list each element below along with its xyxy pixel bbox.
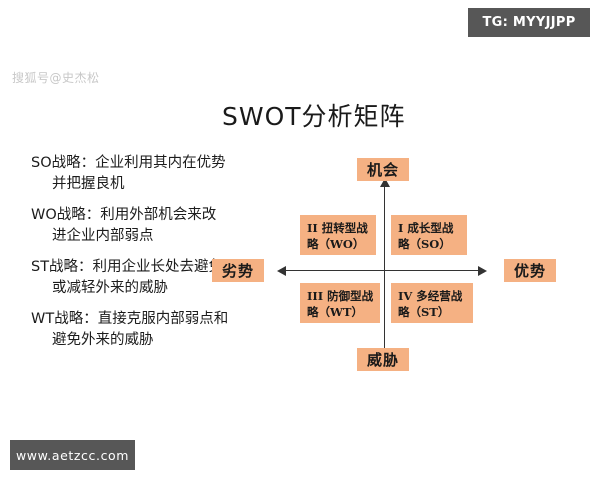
axis-label-strength: 优势 xyxy=(504,259,556,282)
strategy-item-wt: WT战略：直接克服内部弱点和 避免外来的威胁 xyxy=(31,309,271,351)
swot-matrix: 机会 威胁 劣势 优势 II 扭转型战略（WO） I 成长型战略（SO） III… xyxy=(250,160,530,385)
page-title: SWOT分析矩阵 xyxy=(222,97,406,133)
arrow-left-icon xyxy=(277,266,286,276)
horizontal-axis-line xyxy=(285,270,482,271)
quadrant-box-wt: III 防御型战略（WT） xyxy=(300,283,380,323)
strategy-so-line2: 并把握良机 xyxy=(31,174,271,195)
strategy-wo-line1: WO战略：利用外部机会来改 xyxy=(31,205,271,226)
strategy-wt-line1: WT战略：直接克服内部弱点和 xyxy=(31,309,271,330)
axis-label-threat: 威胁 xyxy=(357,348,409,371)
strategy-item-so: SO战略：企业利用其内在优势 并把握良机 xyxy=(31,153,271,195)
strategy-wo-line2: 进企业内部弱点 xyxy=(31,226,271,247)
quadrant-box-st: IV 多经营战略（ST） xyxy=(391,283,473,323)
strategy-item-wo: WO战略：利用外部机会来改 进企业内部弱点 xyxy=(31,205,271,247)
strategy-description-list: SO战略：企业利用其内在优势 并把握良机 WO战略：利用外部机会来改 进企业内部… xyxy=(31,153,271,361)
quadrant-box-wo: II 扭转型战略（WO） xyxy=(300,215,376,255)
site-url-banner: www.aetzcc.com xyxy=(10,440,135,470)
sohu-watermark: 搜狐号@史杰松 xyxy=(12,69,100,86)
arrow-right-icon xyxy=(478,266,487,276)
quadrant-box-so: I 成长型战略（SO） xyxy=(391,215,467,255)
strategy-wt-line2: 避免外来的威胁 xyxy=(31,330,271,351)
axis-label-weakness: 劣势 xyxy=(212,259,264,282)
swot-diagram-canvas: TG: MYYJJPP 搜狐号@史杰松 SWOT分析矩阵 SO战略：企业利用其内… xyxy=(0,0,600,480)
axis-label-opportunity: 机会 xyxy=(357,158,409,181)
telegram-handle-badge: TG: MYYJJPP xyxy=(468,8,590,37)
vertical-axis-line xyxy=(384,185,385,360)
strategy-so-line1: SO战略：企业利用其内在优势 xyxy=(31,153,271,174)
